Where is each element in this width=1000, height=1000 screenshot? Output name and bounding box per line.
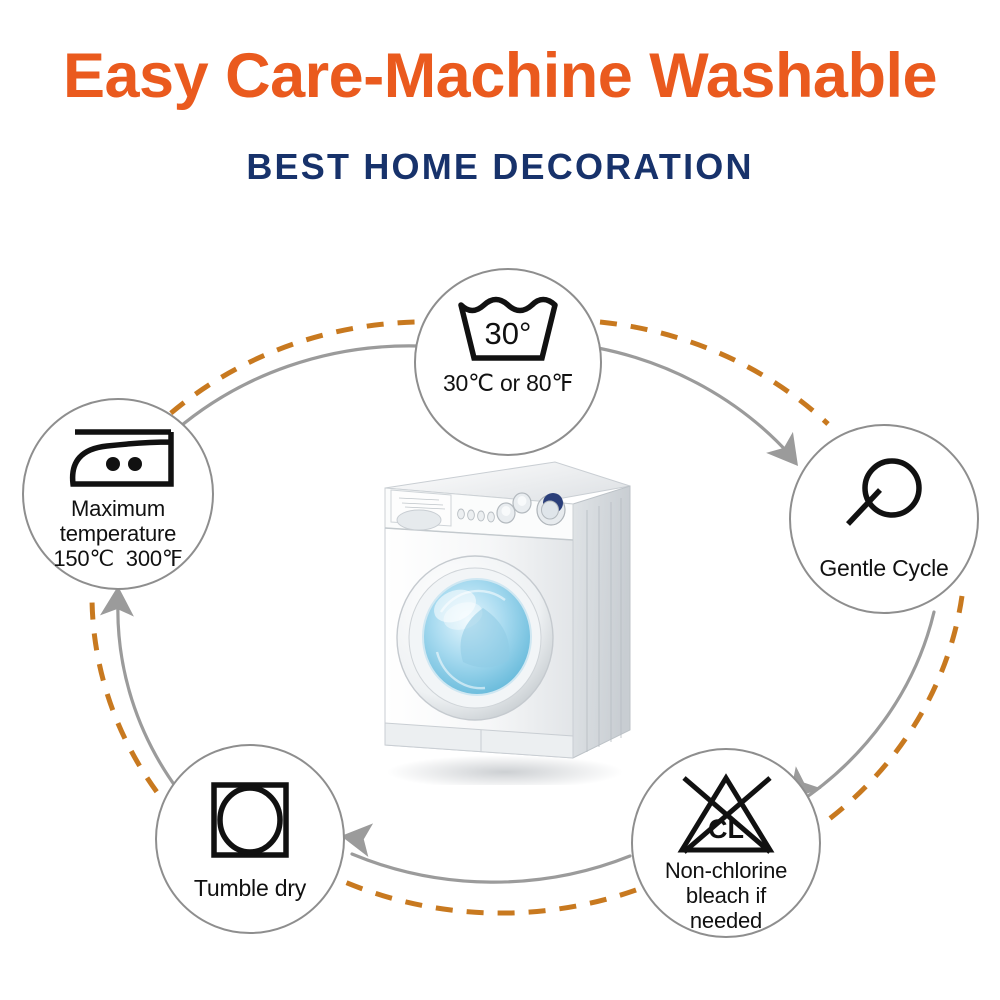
iron-two-dots-icon bbox=[57, 424, 179, 492]
non-chlorine-bleach-icon: CL bbox=[670, 772, 782, 856]
washing-machine-image bbox=[355, 440, 655, 785]
badge-gentle-label: Gentle Cycle bbox=[819, 556, 948, 581]
wash-tub-30-icon: 30° bbox=[452, 296, 564, 364]
tumble-dry-icon bbox=[208, 780, 292, 860]
gentle-cycle-circle-icon bbox=[836, 456, 932, 542]
badge-iron-temperature[interactable]: Maximum temperature 150℃ 300℉ bbox=[22, 398, 214, 590]
badge-tumble-label: Tumble dry bbox=[194, 876, 306, 901]
badge-bleach-label: Non-chlorine bleach if needed bbox=[665, 858, 787, 933]
badge-tumble-dry[interactable]: Tumble dry bbox=[155, 744, 345, 934]
badge-wash-label: 30℃ or 80℉ bbox=[443, 371, 573, 396]
badge-gentle-cycle[interactable]: Gentle Cycle bbox=[789, 424, 979, 614]
badge-wash-temperature[interactable]: 30° 30℃ or 80℉ bbox=[414, 268, 602, 456]
badge-non-chlorine-bleach[interactable]: CL Non-chlorine bleach if needed bbox=[631, 748, 821, 938]
wash-tub-temp-text: 30° bbox=[485, 316, 532, 351]
badge-iron-label: Maximum temperature 150℃ 300℉ bbox=[53, 496, 182, 571]
infographic-page: Easy Care-Machine Washable BEST HOME DEC… bbox=[0, 0, 1000, 1000]
